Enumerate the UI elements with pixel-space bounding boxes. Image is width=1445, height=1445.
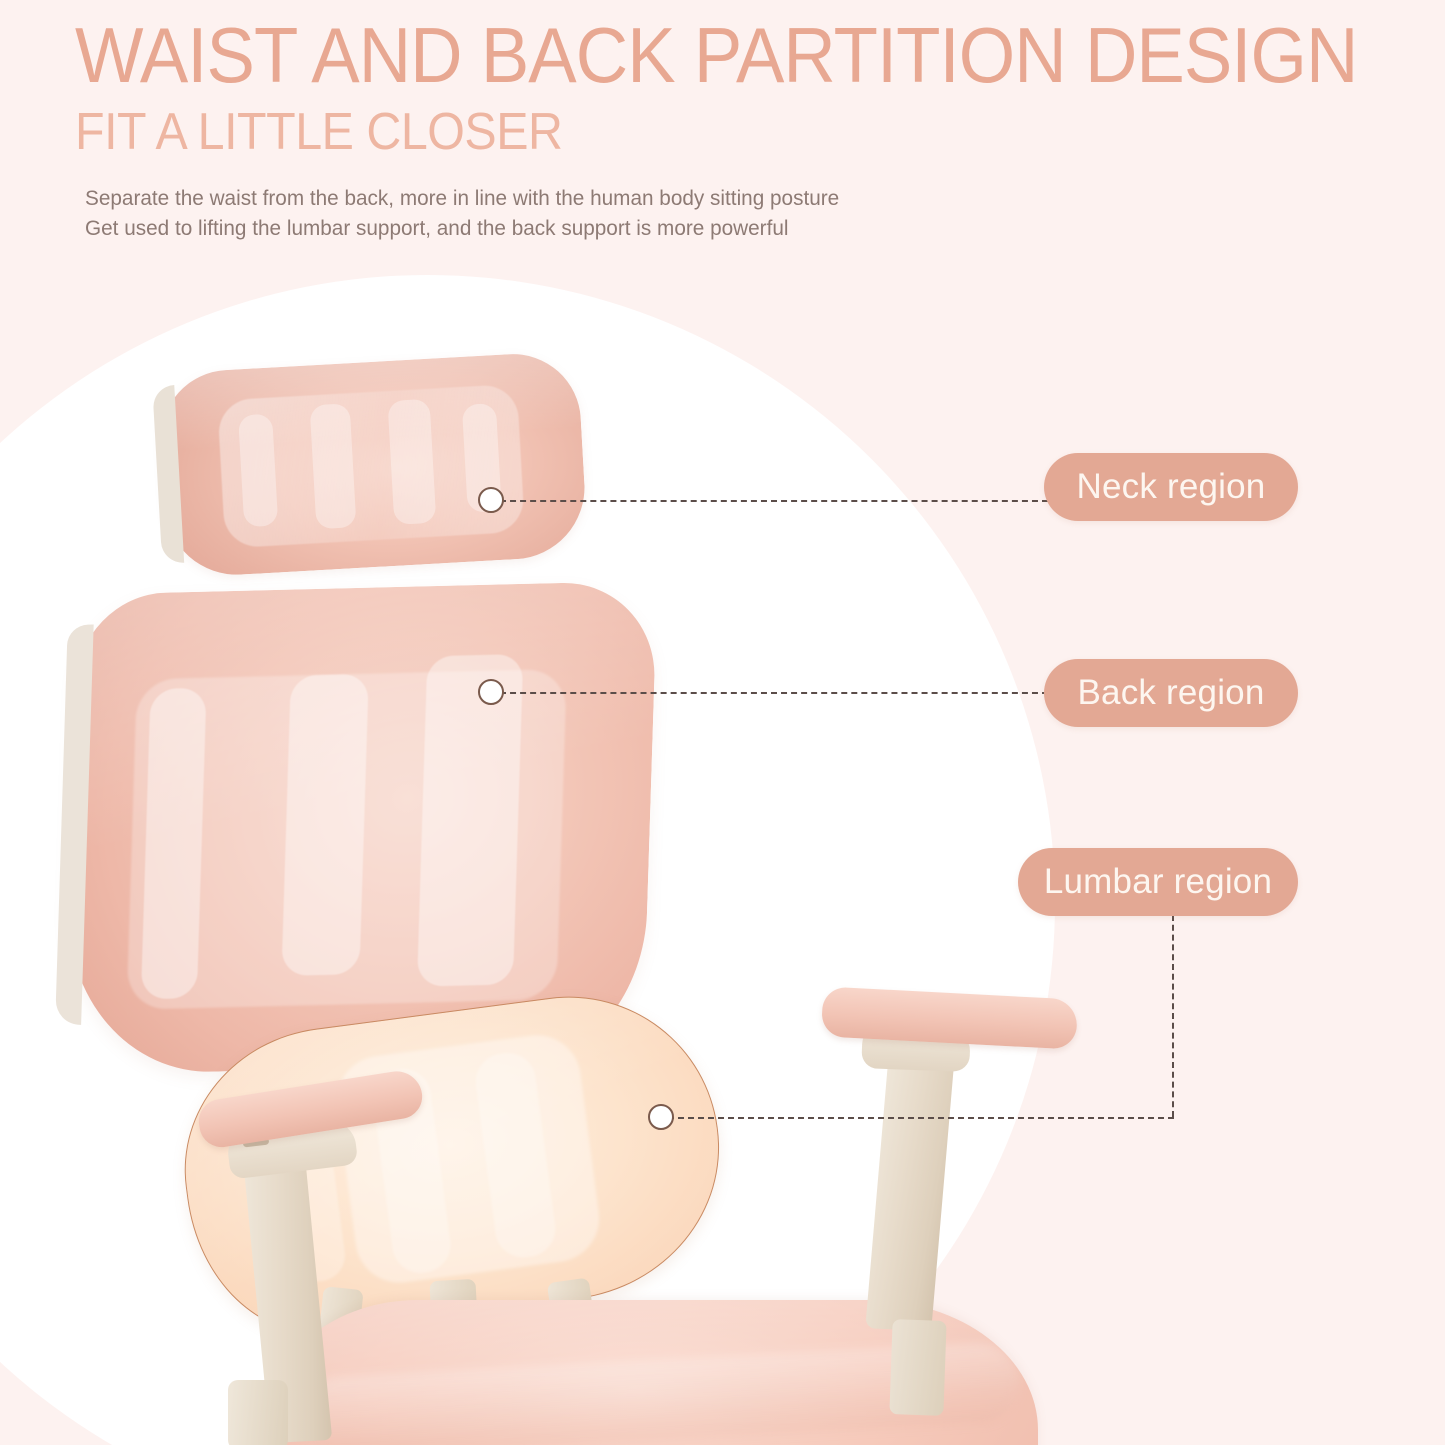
left-frame-column — [228, 1380, 288, 1445]
callout-marker-back — [478, 679, 504, 705]
right-armrest-lower-post — [889, 1319, 946, 1416]
headrest-rib — [238, 414, 278, 528]
callout-label-neck-region: Neck region — [1044, 453, 1298, 521]
lumbar-center-panel — [332, 1030, 605, 1288]
infographic-canvas: WAIST AND BACK PARTITION DESIGN FIT A LI… — [0, 0, 1445, 1445]
connector-line-back — [500, 692, 1048, 694]
headrest-rib — [387, 399, 436, 525]
connector-line-lumbar-vertical — [1172, 915, 1174, 1117]
backrest-rib — [141, 688, 207, 1000]
backrest-rib — [281, 674, 368, 976]
callout-label-back-region: Back region — [1044, 659, 1298, 727]
callout-marker-lumbar — [648, 1104, 674, 1130]
right-armrest-pad — [821, 986, 1078, 1049]
chair-headrest — [158, 350, 589, 578]
backrest-rib — [417, 654, 523, 987]
headrest-rib — [310, 403, 357, 529]
connector-line-neck — [500, 500, 1048, 502]
callout-label-lumbar-region: Lumbar region — [1018, 848, 1298, 916]
page-subtitle: FIT A LITTLE CLOSER — [75, 106, 562, 158]
connector-line-lumbar-horizontal — [668, 1117, 1174, 1119]
page-title: WAIST AND BACK PARTITION DESIGN — [75, 16, 1357, 94]
description-line-1: Separate the waist from the back, more i… — [85, 183, 839, 213]
right-armrest-post — [865, 1029, 957, 1331]
description-line-2: Get used to lifting the lumbar support, … — [85, 213, 789, 243]
callout-marker-neck — [478, 487, 504, 513]
